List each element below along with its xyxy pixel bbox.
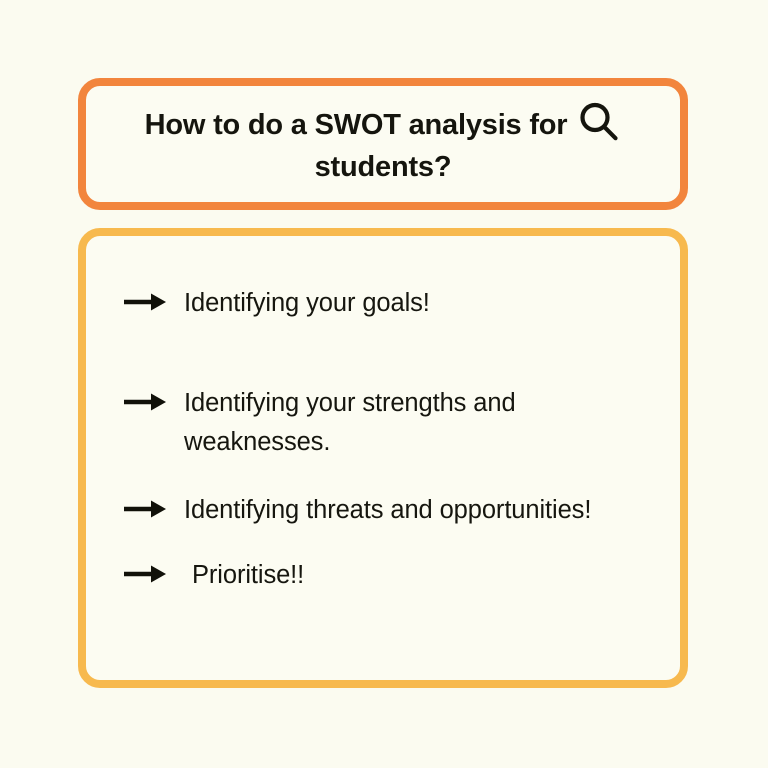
question-title: How to do a SWOT analysis for students?: [118, 100, 648, 187]
arrow-right-icon: [122, 389, 168, 415]
question-title-line-1: How to do a SWOT analysis for: [145, 109, 568, 141]
arrow-right-icon: [122, 496, 168, 522]
list-item: Identifying your strengths and weaknesse…: [122, 384, 658, 463]
answer-card: Identifying your goals! Identifying your…: [78, 228, 688, 688]
list-item-label: Identifying your strengths and weaknesse…: [168, 384, 658, 463]
poster-canvas: How to do a SWOT analysis for students? …: [0, 0, 768, 768]
list-item: Prioritise!!: [122, 556, 658, 596]
search-icon: [577, 100, 621, 144]
question-title-line-2: students?: [315, 151, 452, 183]
list-item: Identifying your goals!: [122, 284, 658, 324]
list-item-label: Identifying your goals!: [168, 284, 430, 324]
answer-list: Identifying your goals! Identifying your…: [122, 284, 658, 596]
arrow-right-icon: [122, 289, 168, 315]
list-item: Identifying threats and opportunities!: [122, 491, 658, 531]
list-item-label: Identifying threats and opportunities!: [168, 491, 591, 531]
list-item-label: Prioritise!!: [168, 556, 304, 596]
question-card: How to do a SWOT analysis for students?: [78, 78, 688, 210]
arrow-right-icon: [122, 561, 168, 587]
